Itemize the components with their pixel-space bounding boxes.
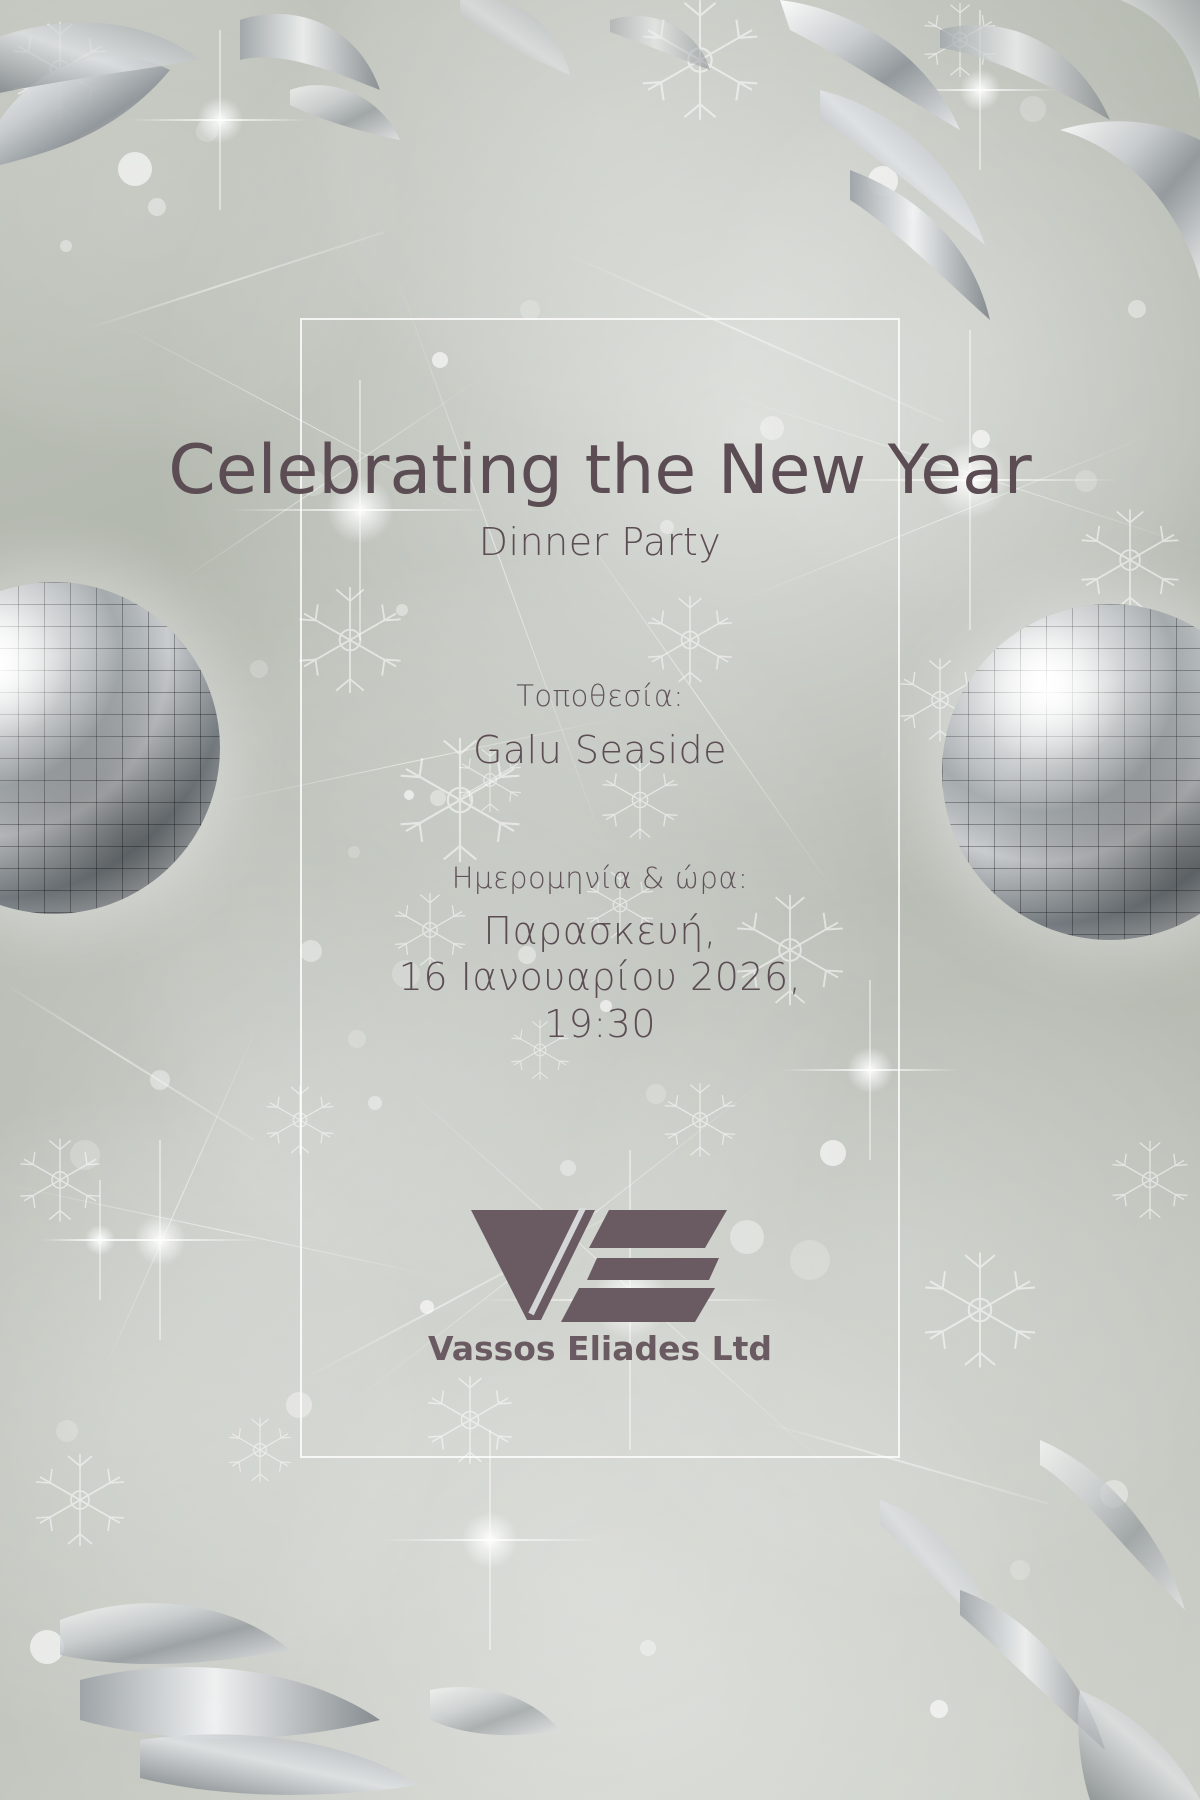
page-title: Celebrating the New Year xyxy=(0,437,1200,505)
page-subtitle: Dinner Party xyxy=(0,523,1200,561)
location-label: Τοποθεσία: xyxy=(0,682,1200,711)
datetime-date: 16 Ιανουαρίου 2026, xyxy=(0,954,1200,1000)
datetime-time: 19:30 xyxy=(0,1001,1200,1047)
location-value: Galu Seaside xyxy=(0,727,1200,773)
brand-logo-wrap xyxy=(0,1208,1200,1330)
new-year-party-poster: Celebrating the New Year Dinner Party Το… xyxy=(0,0,1200,1800)
ribbon-confetti-top xyxy=(0,0,1200,340)
datetime-day: Παρασκευή, xyxy=(0,908,1200,954)
datetime-label: Ημερομηνία & ώρα: xyxy=(0,864,1200,893)
ribbon-confetti-bottom xyxy=(0,1440,1200,1800)
brand-name: Vassos Eliades Ltd xyxy=(0,1329,1200,1368)
ve-monogram-logo-icon xyxy=(469,1208,731,1326)
datetime-value: Παρασκευή, 16 Ιανουαρίου 2026, 19:30 xyxy=(0,908,1200,1047)
